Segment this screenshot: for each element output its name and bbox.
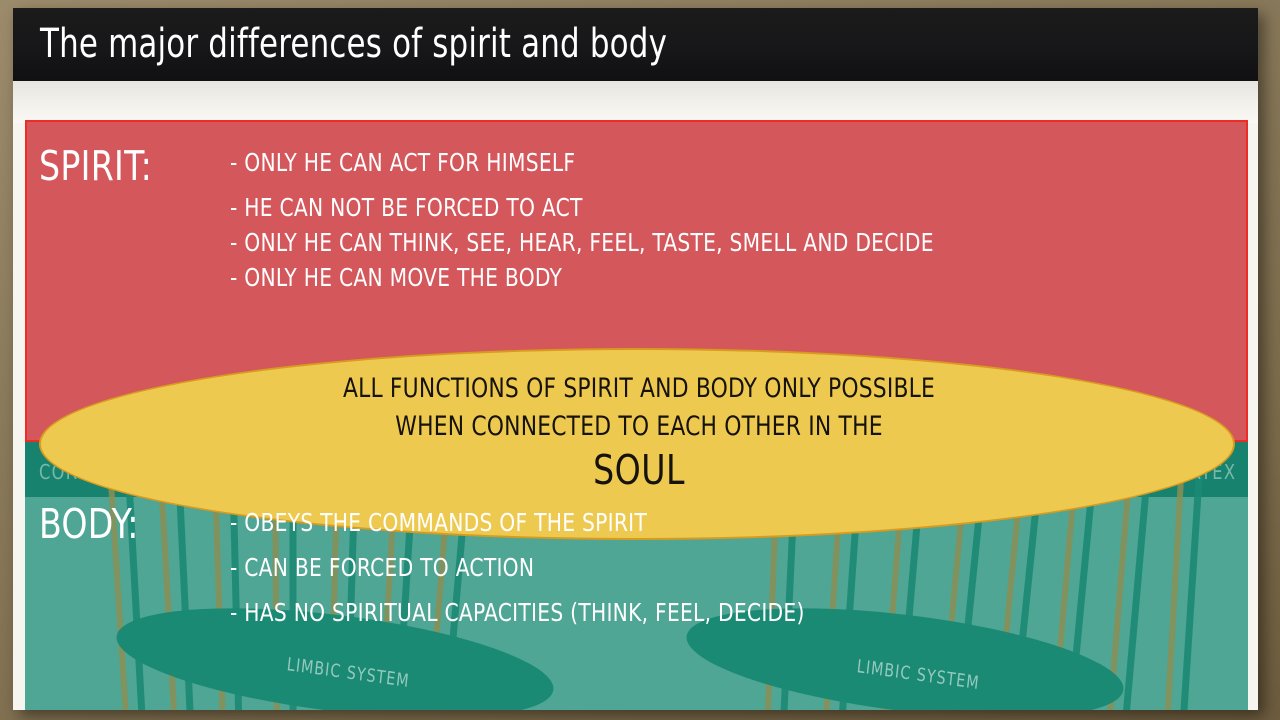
soul-keyword: SOUL (101, 446, 1177, 494)
slide-title-bar: The major differences of spirit and body (13, 8, 1258, 81)
spirit-bullet-4: - ONLY HE CAN MOVE THE BODY (230, 263, 934, 292)
spirit-bullet-2: - HE CAN NOT BE FORCED TO ACT (230, 193, 934, 222)
body-bullet-2: - CAN BE FORCED TO ACTION (230, 553, 805, 582)
soul-text-block: ALL FUNCTIONS OF SPIRIT AND BODY ONLY PO… (41, 370, 1237, 494)
spirit-heading: SPIRIT: (39, 142, 152, 190)
spirit-bullet-3: - ONLY HE CAN THINK, SEE, HEAR, FEEL, TA… (230, 228, 934, 257)
slide-content-stage: SPIRIT: - ONLY HE CAN ACT FOR HIMSELF - … (25, 120, 1248, 710)
slide-canvas: The major differences of spirit and body… (13, 8, 1258, 710)
soul-line-1: ALL FUNCTIONS OF SPIRIT AND BODY ONLY PO… (101, 370, 1177, 408)
page-title: The major differences of spirit and body (40, 21, 667, 67)
spirit-bullet-list: - ONLY HE CAN ACT FOR HIMSELF - HE CAN N… (230, 148, 1012, 298)
body-bullet-list: - OBEYS THE COMMANDS OF THE SPIRIT - CAN… (230, 508, 869, 643)
spirit-bullet-1: - ONLY HE CAN ACT FOR HIMSELF (230, 148, 934, 177)
body-heading: BODY: (39, 500, 139, 548)
body-bullet-3: - HAS NO SPIRITUAL CAPACITIES (THINK, FE… (230, 598, 805, 627)
soul-line-2: WHEN CONNECTED TO EACH OTHER IN THE (101, 408, 1177, 446)
body-bullet-1: - OBEYS THE COMMANDS OF THE SPIRIT (230, 508, 805, 537)
title-underlay (13, 81, 1258, 123)
